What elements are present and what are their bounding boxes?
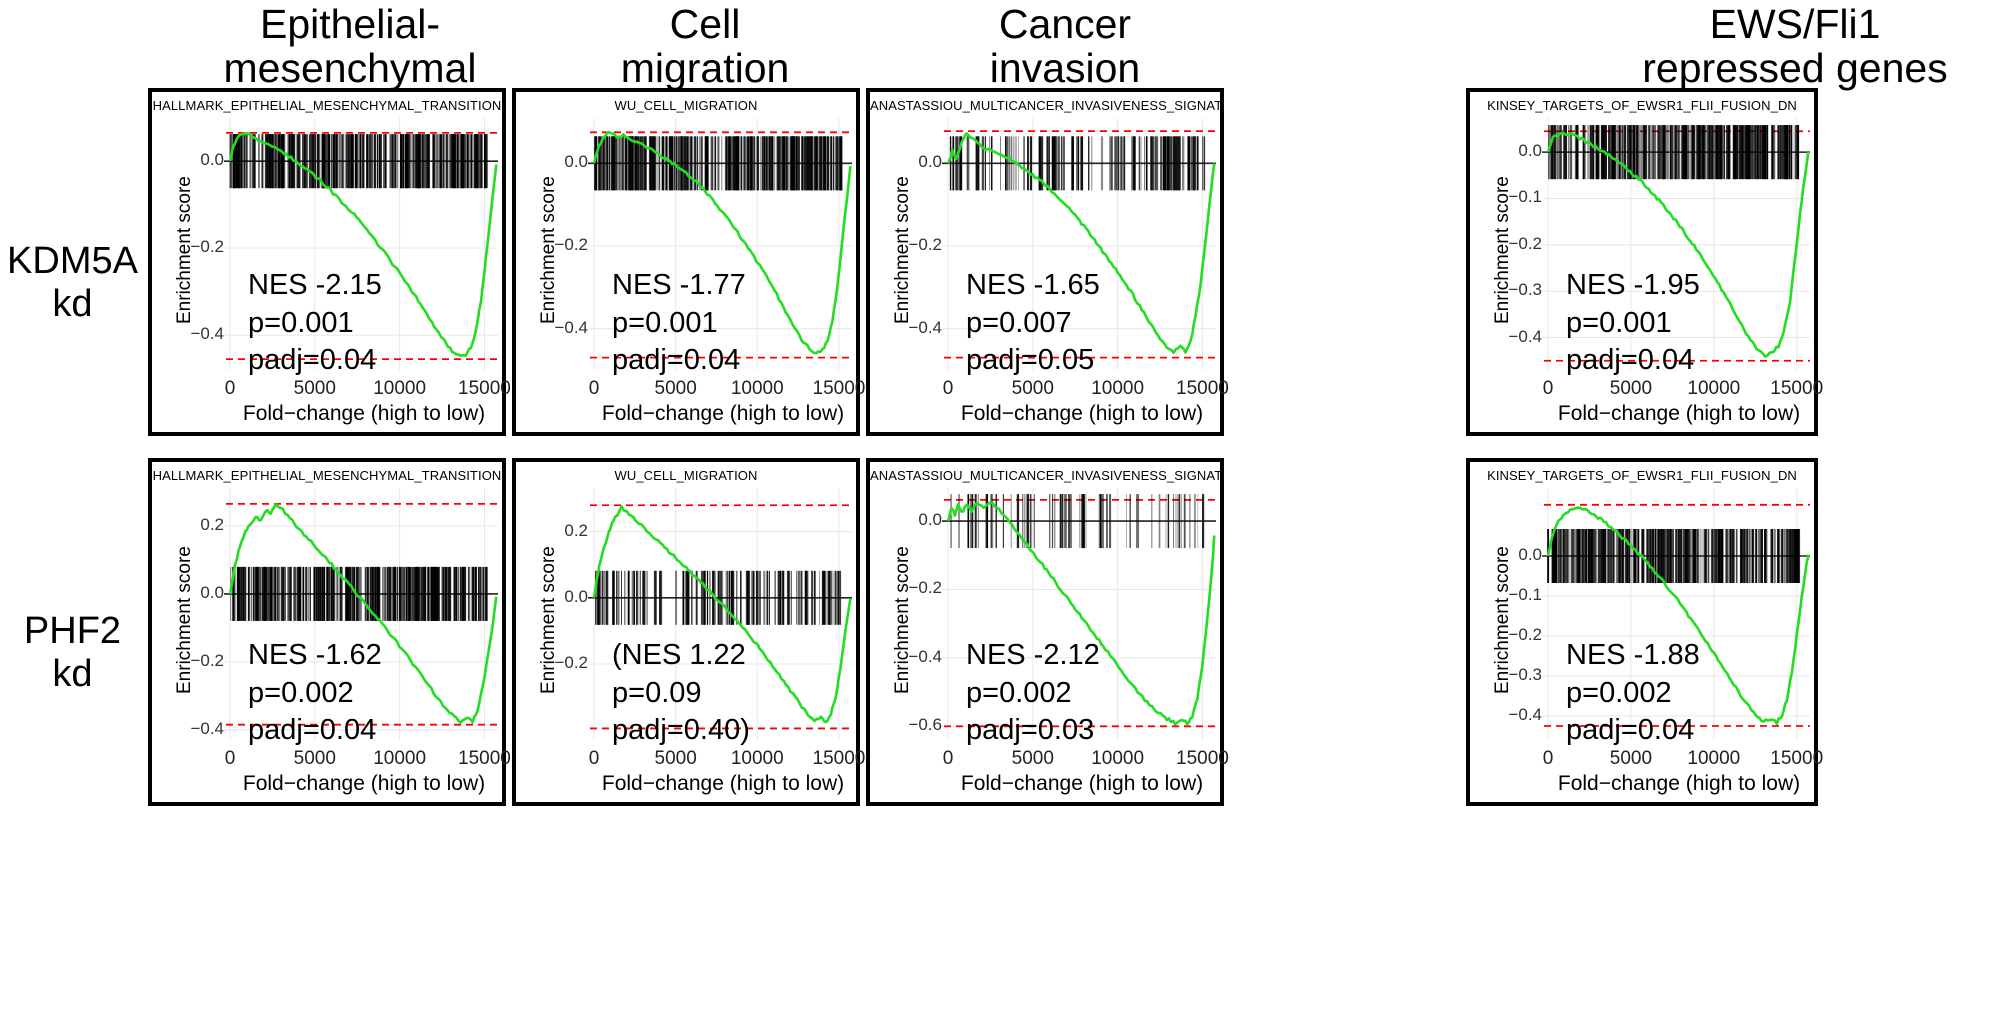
gsea-panel: WU_CELL_MIGRATION0.20.0−0.20500010000150… [512,458,860,806]
x-axis-title: Fold−change (high to low) [594,402,852,426]
gene-hit-rug [595,136,841,190]
x-tick-label: 0 [1506,748,1590,770]
y-tick-label: −0.4 [1490,705,1542,725]
x-tick-label: 10000 [358,378,442,400]
x-axis-title: Fold−change (high to low) [594,772,852,796]
padj-value: padj=0.04 [1566,712,1700,750]
y-axis-title: Enrichment score [174,176,196,324]
gene-hit-rug [231,567,487,621]
gsea-panel: HALLMARK_EPITHELIAL_MESENCHYMAL_TRANSITI… [148,88,506,436]
x-tick-label: 5000 [1589,748,1673,770]
column-header-ews-fli1-line2: repressed genes [1600,46,1990,90]
p-value: p=0.002 [966,675,1100,713]
x-tick-label: 0 [906,748,990,770]
row-label-phf2: PHF2 kd [0,610,145,695]
column-header-ews-fli1: EWS/Fli1 repressed genes [1600,2,1990,91]
gsea-panel: KINSEY_TARGETS_OF_EWSR1_FLII_FUSION_DN0.… [1466,458,1818,806]
x-tick-label: 10000 [715,378,799,400]
y-axis-title: Enrichment score [538,176,560,324]
p-value: p=0.001 [248,305,382,343]
gsea-figure: Epithelial-mesenchymal transition Cell m… [0,0,2000,1026]
column-header-cancer-invasion-line2: invasion [880,46,1250,90]
statistics-annotation: NES -1.62p=0.002padj=0.04 [248,637,382,750]
column-header-cell-migration-line2: migration [520,46,890,90]
y-tick-label: −0.4 [1490,327,1542,347]
nes-value: NES -2.12 [966,637,1100,675]
x-axis-title: Fold−change (high to low) [1548,772,1810,796]
row-label-kdm5a: KDM5A kd [0,240,145,325]
x-tick-label: 5000 [634,748,718,770]
x-axis-title: Fold−change (high to low) [1548,402,1810,426]
statistics-annotation: NES -1.95p=0.001padj=0.04 [1566,267,1700,380]
column-header-cell-migration-line1: Cell [520,2,890,46]
padj-value: padj=0.03 [966,712,1100,750]
padj-value: padj=0.04 [612,342,746,380]
row-label-kdm5a-line1: KDM5A [0,240,145,283]
row-label-kdm5a-line2: kd [0,283,145,326]
p-value: p=0.09 [612,675,750,713]
x-tick-label: 5000 [273,378,357,400]
statistics-annotation: NES -1.65p=0.007padj=0.05 [966,267,1100,380]
gsea-panel: WU_CELL_MIGRATION0.0−0.2−0.4050001000015… [512,88,860,436]
y-tick-label: −0.6 [890,715,942,735]
gene-hit-rug [1548,529,1799,583]
y-tick-label: −0.4 [172,719,224,739]
y-tick-label: 0.2 [536,521,588,541]
row-label-phf2-line1: PHF2 [0,610,145,653]
y-tick-label: 0.2 [172,515,224,535]
y-tick-label: 0.0 [1490,141,1542,161]
x-tick-label: 15000 [1755,378,1839,400]
x-tick-label: 5000 [634,378,718,400]
x-tick-label: 10000 [1672,378,1756,400]
gene-hit-rug [230,134,487,188]
padj-value: padj=0.05 [966,342,1100,380]
y-axis-title: Enrichment score [1492,546,1514,694]
column-header-ews-fli1-line1: EWS/Fli1 [1600,2,1990,46]
gsea-panel: ANASTASSIOU_MULTICANCER_INVASIVENESS_SIG… [866,458,1224,806]
x-tick-label: 0 [1506,378,1590,400]
x-tick-label: 0 [552,748,636,770]
x-tick-label: 0 [552,378,636,400]
y-axis-title: Enrichment score [538,546,560,694]
y-tick-label: 0.0 [172,150,224,170]
x-tick-label: 5000 [991,378,1075,400]
column-header-cell-migration: Cell migration [520,2,890,91]
gsea-panel: KINSEY_TARGETS_OF_EWSR1_FLII_FUSION_DN0.… [1466,88,1818,436]
x-tick-label: 0 [188,748,272,770]
nes-value: NES -1.77 [612,267,746,305]
y-axis-title: Enrichment score [892,546,914,694]
padj-value: padj=0.04 [248,342,382,380]
y-tick-label: −0.4 [172,324,224,344]
padj-value: padj=0.04 [248,712,382,750]
nes-value: NES -1.62 [248,637,382,675]
x-tick-label: 10000 [715,748,799,770]
y-axis-title: Enrichment score [892,176,914,324]
gsea-panel: HALLMARK_EPITHELIAL_MESENCHYMAL_TRANSITI… [148,458,506,806]
nes-value: (NES 1.22 [612,637,750,675]
p-value: p=0.001 [612,305,746,343]
x-tick-label: 10000 [358,748,442,770]
x-tick-label: 5000 [273,748,357,770]
x-axis-title: Fold−change (high to low) [230,772,498,796]
p-value: p=0.007 [966,305,1100,343]
x-tick-label: 10000 [1672,748,1756,770]
p-value: p=0.002 [1566,675,1700,713]
y-axis-title: Enrichment score [1492,176,1514,324]
statistics-annotation: NES -1.77p=0.001padj=0.04 [612,267,746,380]
row-label-phf2-line2: kd [0,653,145,696]
nes-value: NES -1.88 [1566,637,1700,675]
p-value: p=0.002 [248,675,382,713]
statistics-annotation: NES -2.12p=0.002padj=0.03 [966,637,1100,750]
p-value: p=0.001 [1566,305,1700,343]
x-tick-label: 5000 [991,748,1075,770]
x-tick-label: 15000 [1755,748,1839,770]
x-tick-label: 0 [906,378,990,400]
y-tick-label: 0.0 [890,152,942,172]
x-tick-label: 0 [188,378,272,400]
x-axis-title: Fold−change (high to low) [948,772,1216,796]
x-axis-title: Fold−change (high to low) [230,402,498,426]
y-tick-label: 0.0 [536,152,588,172]
statistics-annotation: NES -2.15p=0.001padj=0.04 [248,267,382,380]
column-header-emt-line1: Epithelial-mesenchymal [150,2,550,91]
column-header-cancer-invasion: Cancer invasion [880,2,1250,91]
gsea-panel: ANASTASSIOU_MULTICANCER_INVASIVENESS_SIG… [866,88,1224,436]
x-tick-label: 15000 [1160,748,1244,770]
statistics-annotation: (NES 1.22p=0.09padj=0.40) [612,637,750,750]
y-axis-title: Enrichment score [174,546,196,694]
statistics-annotation: NES -1.88p=0.002padj=0.04 [1566,637,1700,750]
x-axis-title: Fold−change (high to low) [948,402,1216,426]
padj-value: padj=0.40) [612,712,750,750]
padj-value: padj=0.04 [1566,342,1700,380]
nes-value: NES -1.95 [1566,267,1700,305]
nes-value: NES -1.65 [966,267,1100,305]
x-tick-label: 10000 [1076,748,1160,770]
x-tick-label: 5000 [1589,378,1673,400]
x-tick-label: 10000 [1076,378,1160,400]
nes-value: NES -2.15 [248,267,382,305]
column-header-cancer-invasion-line1: Cancer [880,2,1250,46]
x-tick-label: 15000 [1160,378,1244,400]
y-tick-label: 0.0 [890,510,942,530]
